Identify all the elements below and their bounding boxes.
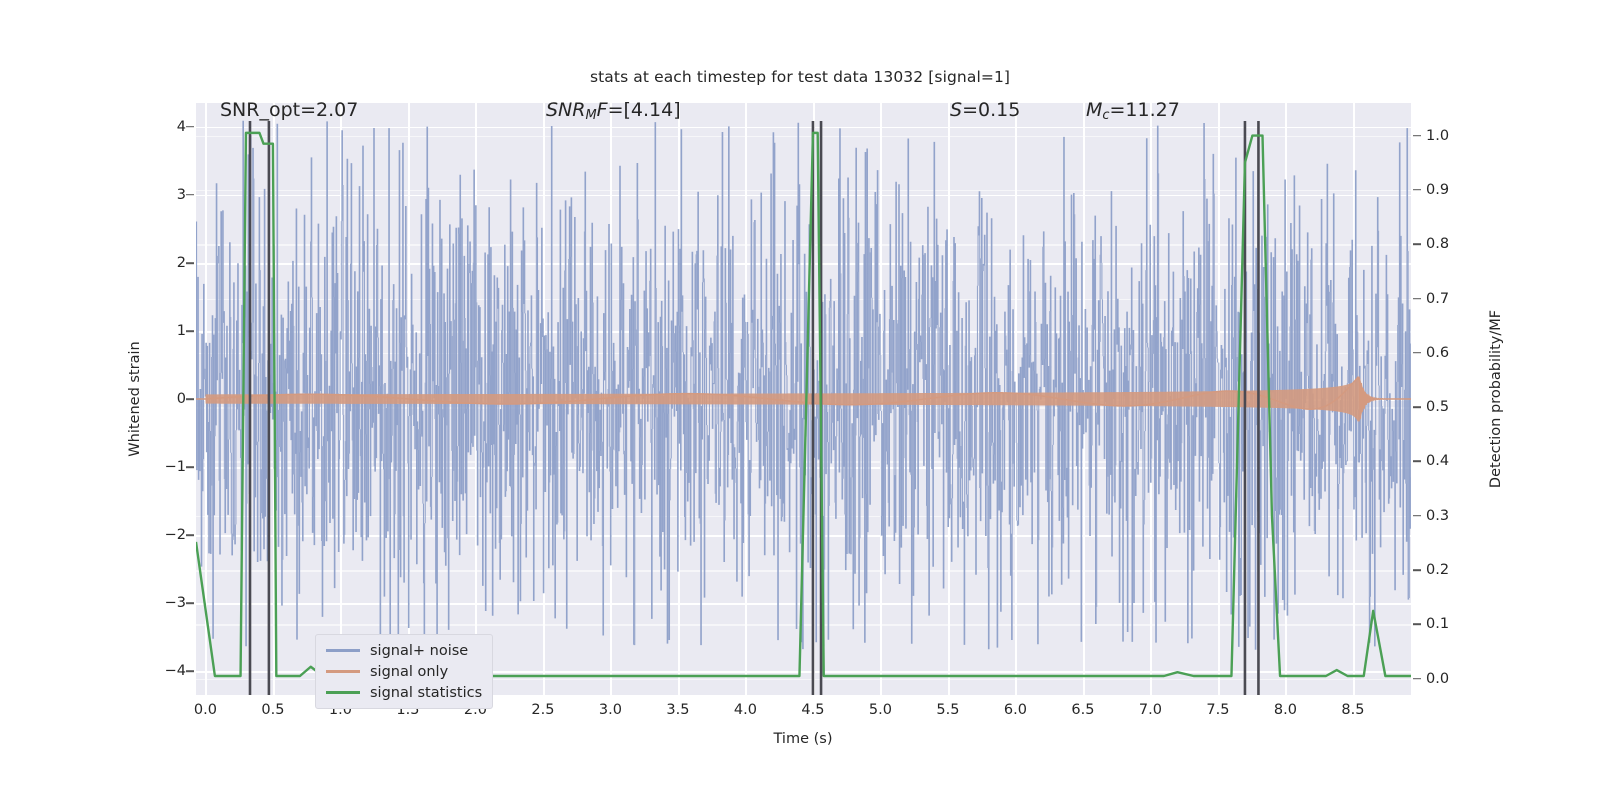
annotation-snr-mf-mid: F xyxy=(597,99,608,121)
y-tick-label-left: 0 xyxy=(126,391,186,407)
y-tick-label-right: 0.7 xyxy=(1426,291,1486,307)
legend-item-signal-statistics[interactable]: signal statistics xyxy=(320,682,488,703)
y-tick-label-right: 0.5 xyxy=(1426,399,1486,415)
x-tick-label: 3.5 xyxy=(666,702,689,718)
noise-trace xyxy=(196,121,1411,650)
y-tick-mark-left xyxy=(186,534,194,536)
x-tick-label: 7.0 xyxy=(1139,702,1162,718)
y-tick-label-left: −4 xyxy=(126,663,186,679)
y-tick-label-left: −2 xyxy=(126,527,186,543)
y-tick-label-right: 0.4 xyxy=(1426,453,1486,469)
x-tick-label: 5.0 xyxy=(869,702,892,718)
y-tick-label-left: −1 xyxy=(126,459,186,475)
x-tick-label: 7.5 xyxy=(1206,702,1229,718)
y-tick-label-right: 0.8 xyxy=(1426,236,1486,252)
series-signal-plus-noise xyxy=(196,121,1411,650)
annotation-snr-opt: SNR_opt=2.07 xyxy=(220,99,358,121)
y-tick-mark-right xyxy=(1413,678,1421,680)
legend-swatch-signal-noise xyxy=(326,649,360,651)
y-tick-label-left: 2 xyxy=(126,255,186,271)
x-tick-label: 2.5 xyxy=(531,702,554,718)
y-tick-mark-right xyxy=(1413,352,1421,354)
legend-label-signal-only: signal only xyxy=(370,664,448,680)
x-tick-label: 4.0 xyxy=(734,702,757,718)
x-axis-label: Time (s) xyxy=(774,731,833,747)
legend-label-signal-statistics: signal statistics xyxy=(370,685,482,701)
annotation-mc-value: =11.27 xyxy=(1110,99,1180,121)
y-tick-mark-left xyxy=(186,602,194,604)
y-tick-label-right: 0.2 xyxy=(1426,562,1486,578)
annotation-s-value: =0.15 xyxy=(962,99,1020,121)
x-tick-label: 8.5 xyxy=(1341,702,1364,718)
x-tick-label: 6.0 xyxy=(1004,702,1027,718)
y-tick-mark-left xyxy=(186,126,194,128)
x-tick-label: 4.5 xyxy=(801,702,824,718)
x-tick-label: 6.5 xyxy=(1071,702,1094,718)
x-tick-label: 3.0 xyxy=(599,702,622,718)
y-tick-mark-right xyxy=(1413,406,1421,408)
legend-label-signal-noise: signal+ noise xyxy=(370,643,468,659)
y-tick-label-right: 0.0 xyxy=(1426,671,1486,687)
y-tick-label-right: 1.0 xyxy=(1426,128,1486,144)
y-tick-mark-right xyxy=(1413,298,1421,300)
y-tick-mark-right xyxy=(1413,624,1421,626)
annotation-mc-symbol: M xyxy=(1086,99,1102,121)
annotation-snr-mf: SNRMF=[4.14] xyxy=(546,99,681,123)
y-tick-mark-left xyxy=(186,398,194,400)
legend-swatch-signal-only xyxy=(326,670,360,672)
annotation-s-stat: S=0.15 xyxy=(950,99,1020,121)
y-tick-mark-right xyxy=(1413,243,1421,245)
y-tick-label-right: 0.1 xyxy=(1426,616,1486,632)
y-tick-mark-right xyxy=(1413,569,1421,571)
plot-curves xyxy=(196,103,1411,695)
y-tick-mark-right xyxy=(1413,135,1421,137)
y-tick-mark-left xyxy=(186,262,194,264)
y-tick-label-left: 1 xyxy=(126,323,186,339)
y-tick-mark-left xyxy=(186,194,194,196)
y-tick-label-left: 3 xyxy=(126,187,186,203)
y-tick-mark-right xyxy=(1413,515,1421,517)
annotation-snr-mf-symbol: SNR xyxy=(546,99,585,121)
annotation-snr-mf-sub: M xyxy=(585,108,596,123)
y-tick-mark-right xyxy=(1413,461,1421,463)
plot-area xyxy=(196,103,1411,695)
figure-canvas: stats at each timestep for test data 130… xyxy=(0,0,1600,800)
x-tick-label: 8.0 xyxy=(1274,702,1297,718)
y-tick-mark-left xyxy=(186,670,194,672)
legend-item-signal-only[interactable]: signal only xyxy=(320,661,488,682)
y-tick-mark-left xyxy=(186,466,194,468)
annotation-chirp-mass: Mc=11.27 xyxy=(1086,99,1180,123)
legend-item-signal-noise[interactable]: signal+ noise xyxy=(320,640,488,661)
y-tick-label-left: −3 xyxy=(126,595,186,611)
x-tick-label: 0.5 xyxy=(261,702,284,718)
annotation-mc-sub: c xyxy=(1102,108,1109,123)
legend-swatch-signal-statistics xyxy=(326,691,360,693)
y-tick-mark-left xyxy=(186,330,194,332)
y-tick-label-left: 4 xyxy=(126,119,186,135)
chart-title: stats at each timestep for test data 130… xyxy=(0,68,1600,86)
x-tick-label: 5.5 xyxy=(936,702,959,718)
y-tick-label-right: 0.3 xyxy=(1426,508,1486,524)
annotation-snr-mf-value: =[4.14] xyxy=(608,99,681,121)
y-tick-label-right: 0.9 xyxy=(1426,182,1486,198)
y-axis-label-right: Detection probability/MF xyxy=(1488,310,1504,488)
y-tick-label-right: 0.6 xyxy=(1426,345,1486,361)
legend[interactable]: signal+ noise signal only signal statist… xyxy=(315,634,493,709)
y-tick-mark-right xyxy=(1413,189,1421,191)
annotation-s-symbol: S xyxy=(950,99,962,121)
x-tick-label: 0.0 xyxy=(194,702,217,718)
